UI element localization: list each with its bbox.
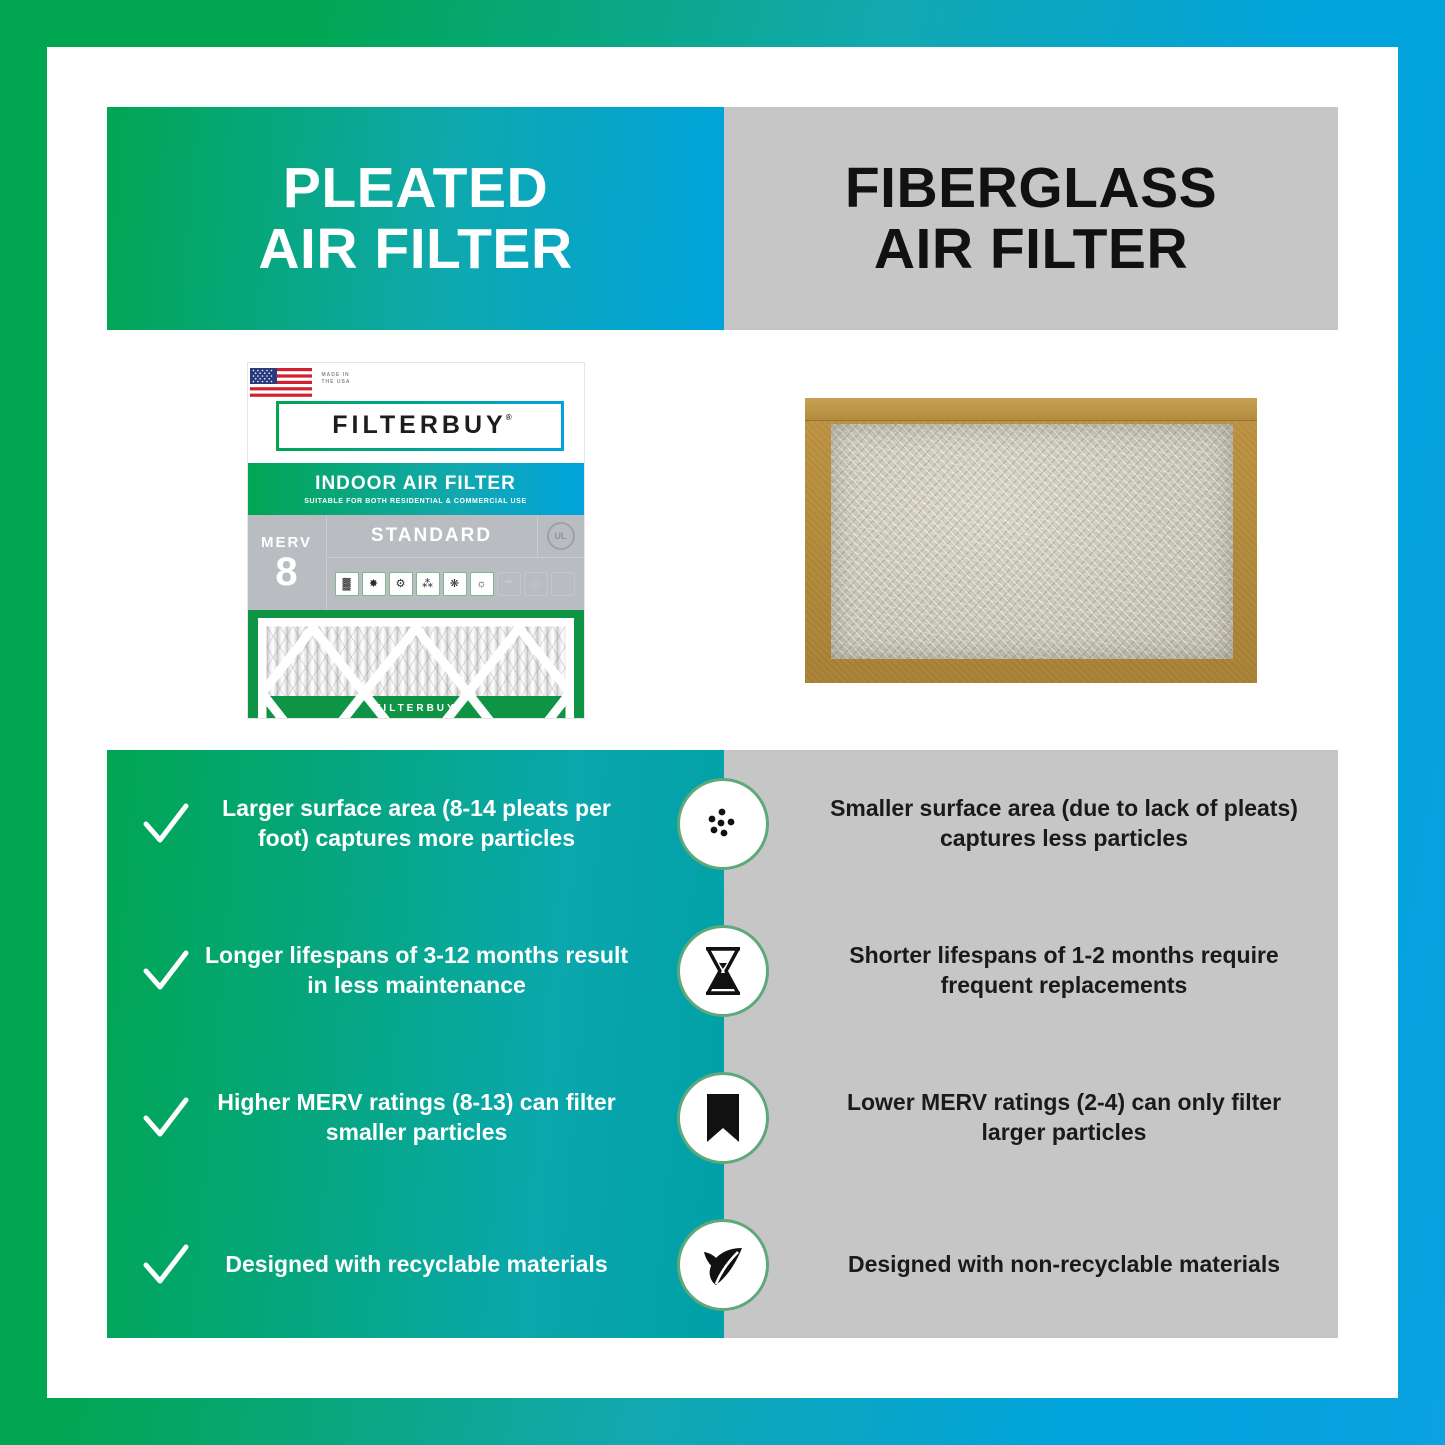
pleated-product-cell: MADE IN THE USA FILTERBUY® INDOOR AIR FI…	[107, 330, 724, 750]
checkmark-icon	[137, 798, 195, 850]
odor-icon: ♨	[551, 572, 575, 596]
merv-rating-block: MERV 8	[248, 515, 327, 610]
header-fiberglass-line2: AIR FILTER	[874, 217, 1188, 281]
pleated-benefit-text: Higher MERV ratings (8-13) can filter sm…	[195, 1088, 638, 1147]
checkmark-icon	[137, 1239, 195, 1291]
particles-icon	[677, 778, 769, 870]
smoke-icon: ☂	[497, 572, 521, 596]
header-fiberglass-title: FIBERGLASS AIR FILTER	[845, 158, 1217, 279]
ul-circle: UL	[547, 522, 575, 550]
merv-value: 8	[275, 553, 297, 591]
checkmark-icon	[137, 1092, 195, 1144]
comparison-row: Longer lifespans of 3-12 months result i…	[107, 897, 1338, 1044]
pleated-media-window: FILTERBUY	[248, 610, 584, 718]
fiberglass-drawback-text: Smaller surface area (due to lack of ple…	[814, 794, 1314, 853]
comparison-row: Higher MERV ratings (8-13) can filter sm…	[107, 1044, 1338, 1191]
dust-lint-icon: ▓	[335, 572, 359, 596]
made-in-line1: MADE IN	[322, 372, 350, 378]
pleated-benefit-cell: Larger surface area (8-14 pleats per foo…	[107, 794, 724, 853]
bacteria-icon: ❋	[443, 572, 467, 596]
pollen-icon: ✸	[362, 572, 386, 596]
trademark-symbol: ®	[506, 413, 516, 422]
fiberglass-product-cell	[724, 330, 1338, 750]
feature-comparison-band: Larger surface area (8-14 pleats per foo…	[107, 750, 1338, 1338]
capture-icon-row: ▓✸⚙⁂❋☼☂◎♨	[327, 558, 584, 610]
header-fiberglass: FIBERGLASS AIR FILTER	[724, 107, 1338, 330]
leaf-icon	[677, 1219, 769, 1311]
fiberglass-drawback-cell: Lower MERV ratings (2-4) can only filter…	[724, 1088, 1338, 1147]
made-in-usa-label: MADE IN THE USA	[322, 372, 351, 387]
fiberglass-drawback-text: Lower MERV ratings (2-4) can only filter…	[814, 1088, 1314, 1147]
bookmark-icon	[677, 1072, 769, 1164]
pleated-benefit-text: Larger surface area (8-14 pleats per foo…	[195, 794, 638, 853]
header-pleated-line1: PLEATED	[283, 156, 548, 220]
filterbuy-brand: FILTERBUY®	[332, 411, 506, 440]
pleated-benefit-cell: Longer lifespans of 3-12 months result i…	[107, 941, 724, 1000]
header-fiberglass-line1: FIBERGLASS	[845, 156, 1217, 220]
fiberglass-drawback-cell: Shorter lifespans of 1-2 months require …	[724, 941, 1338, 1000]
tier-row: STANDARD UL	[327, 515, 584, 558]
pleated-benefit-cell: Higher MERV ratings (8-13) can filter sm…	[107, 1088, 724, 1147]
made-in-line2: THE USA	[322, 379, 351, 385]
pleated-benefit-cell: Designed with recyclable materials	[107, 1239, 724, 1291]
virus-icon: ◎	[524, 572, 548, 596]
usa-flag-icon	[250, 365, 312, 405]
pleated-benefit-text: Designed with recyclable materials	[195, 1250, 638, 1279]
tier-label: STANDARD	[327, 525, 537, 547]
package-footer-brand: FILTERBUY	[248, 703, 584, 714]
merv-label: MERV	[261, 534, 312, 551]
checkmark-icon	[137, 945, 195, 997]
fiberglass-drawback-cell: Designed with non-recyclable materials	[724, 1250, 1338, 1279]
fiberglass-drawback-text: Shorter lifespans of 1-2 months require …	[814, 941, 1314, 1000]
header-pleated: PLEATED AIR FILTER	[107, 107, 724, 330]
mold-spores-icon: ⚙	[389, 572, 413, 596]
filterbuy-logo-box: FILTERBUY®	[276, 401, 564, 451]
product-image-band: MADE IN THE USA FILTERBUY® INDOOR AIR FI…	[107, 330, 1338, 750]
band-main-text: INDOOR AIR FILTER	[315, 473, 516, 495]
header-pleated-line2: AIR FILTER	[258, 217, 572, 281]
fiberglass-media-texture	[831, 424, 1233, 659]
package-spec-section: MERV 8 STANDARD UL ▓✸⚙⁂❋☼☂◎♨	[248, 515, 584, 610]
band-sub-text: SUITABLE FOR BOTH RESIDENTIAL & COMMERCI…	[304, 498, 526, 505]
header-band: PLEATED AIR FILTER FIBERGLASS AIR FILTER	[107, 107, 1338, 330]
comparison-infographic: PLEATED AIR FILTER FIBERGLASS AIR FILTER	[107, 107, 1338, 1338]
pleated-filter-package-image: MADE IN THE USA FILTERBUY® INDOOR AIR FI…	[248, 363, 584, 718]
indoor-air-filter-band: INDOOR AIR FILTER SUITABLE FOR BOTH RESI…	[248, 463, 584, 515]
package-top-section: MADE IN THE USA FILTERBUY®	[248, 363, 584, 463]
fiberglass-drawback-text: Designed with non-recyclable materials	[814, 1250, 1314, 1279]
filterbuy-wordmark: FILTERBUY	[332, 411, 506, 439]
pet-dander-icon: ☼	[470, 572, 494, 596]
fiberglass-filter-image	[805, 398, 1257, 683]
gradient-border-frame: PLEATED AIR FILTER FIBERGLASS AIR FILTER	[0, 0, 1445, 1445]
pleated-benefit-text: Longer lifespans of 3-12 months result i…	[195, 941, 638, 1000]
dust-mites-icon: ⁂	[416, 572, 440, 596]
spec-right-column: STANDARD UL ▓✸⚙⁂❋☼☂◎♨	[327, 515, 584, 610]
feature-rows: Larger surface area (8-14 pleats per foo…	[107, 750, 1338, 1338]
header-pleated-title: PLEATED AIR FILTER	[258, 158, 572, 279]
ul-certification-icon: UL	[537, 515, 584, 557]
hourglass-icon	[677, 925, 769, 1017]
fiberglass-drawback-cell: Smaller surface area (due to lack of ple…	[724, 794, 1338, 853]
comparison-row: Larger surface area (8-14 pleats per foo…	[107, 750, 1338, 897]
comparison-row: Designed with recyclable materialsDesign…	[107, 1191, 1338, 1338]
